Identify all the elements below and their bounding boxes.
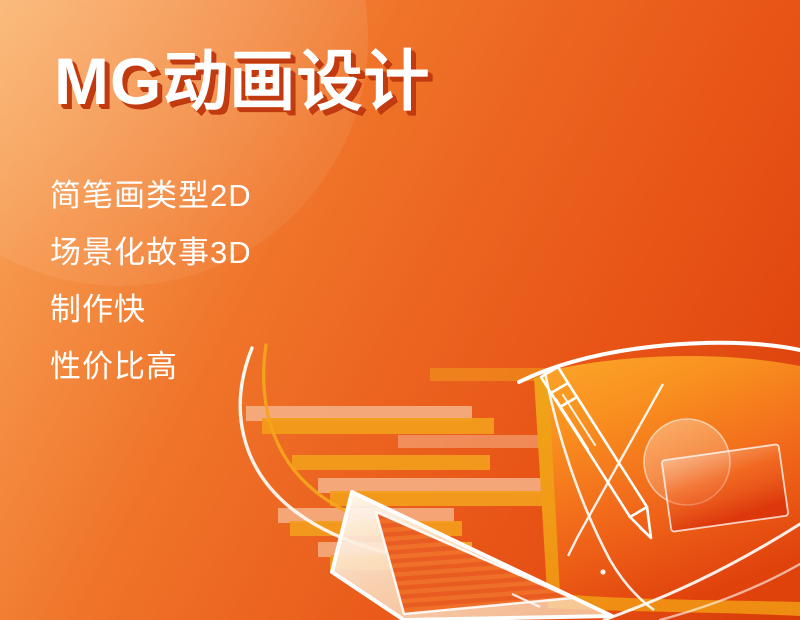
list-item: 场景化故事3D <box>50 237 252 268</box>
feature-list: 简笔画类型2D 场景化故事3D 制作快 性价比高 <box>50 180 252 382</box>
board-rect-shape <box>662 444 789 532</box>
list-item: 简笔画类型2D <box>50 180 252 211</box>
lower-swoosh-outer <box>604 524 800 620</box>
list-item: 制作快 <box>50 294 252 325</box>
page-title: MG动画设计 <box>54 47 430 116</box>
banner-text-block: MG动画设计 简笔画类型2D 场景化故事3D 制作快 性价比高 <box>0 0 620 620</box>
board-circle-shape <box>644 419 730 505</box>
mg-animation-banner: MG动画设计 简笔画类型2D 场景化故事3D 制作快 性价比高 <box>0 0 800 620</box>
lower-swoosh-inner <box>660 564 800 620</box>
list-item: 性价比高 <box>50 351 252 382</box>
